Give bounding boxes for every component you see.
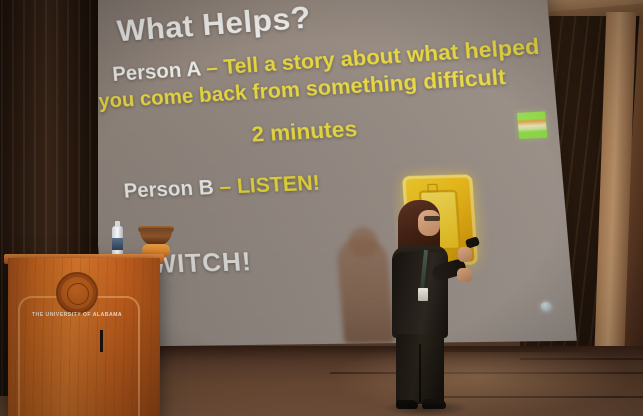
microphone-stand <box>100 330 103 352</box>
person-b-text: LISTEN! <box>236 172 321 198</box>
person-b-label: Person B <box>123 177 215 203</box>
presenter-hand-lower <box>457 268 472 282</box>
slide-title: What Helps? <box>116 0 312 49</box>
eyeglasses-icon <box>424 216 440 221</box>
water-bottle-label <box>112 238 123 250</box>
presenter-leg-seam <box>419 344 421 402</box>
presentation-photo: What Helps? Person A – Tell a story abou… <box>0 0 643 416</box>
presenter-face <box>418 210 440 236</box>
person-a-label: Person A <box>112 58 202 86</box>
presenter-hand-upper <box>458 247 472 262</box>
podium-seal-text: THE UNIVERSITY OF ALABAMA <box>12 312 142 318</box>
person-a-dash: – <box>200 57 225 81</box>
university-seal-icon <box>56 272 98 314</box>
presenter-floor-shadow <box>384 400 468 416</box>
presenter-shadow-body <box>336 237 396 344</box>
person-b-dash: – <box>213 176 238 200</box>
color-chip-right-icon <box>517 111 547 139</box>
screen-light-dot <box>540 302 551 312</box>
floor-light-glow <box>330 352 630 416</box>
duration-text: 2 minutes <box>251 117 359 148</box>
person-b-line: Person B – LISTEN! <box>123 172 321 204</box>
badge <box>418 288 428 301</box>
